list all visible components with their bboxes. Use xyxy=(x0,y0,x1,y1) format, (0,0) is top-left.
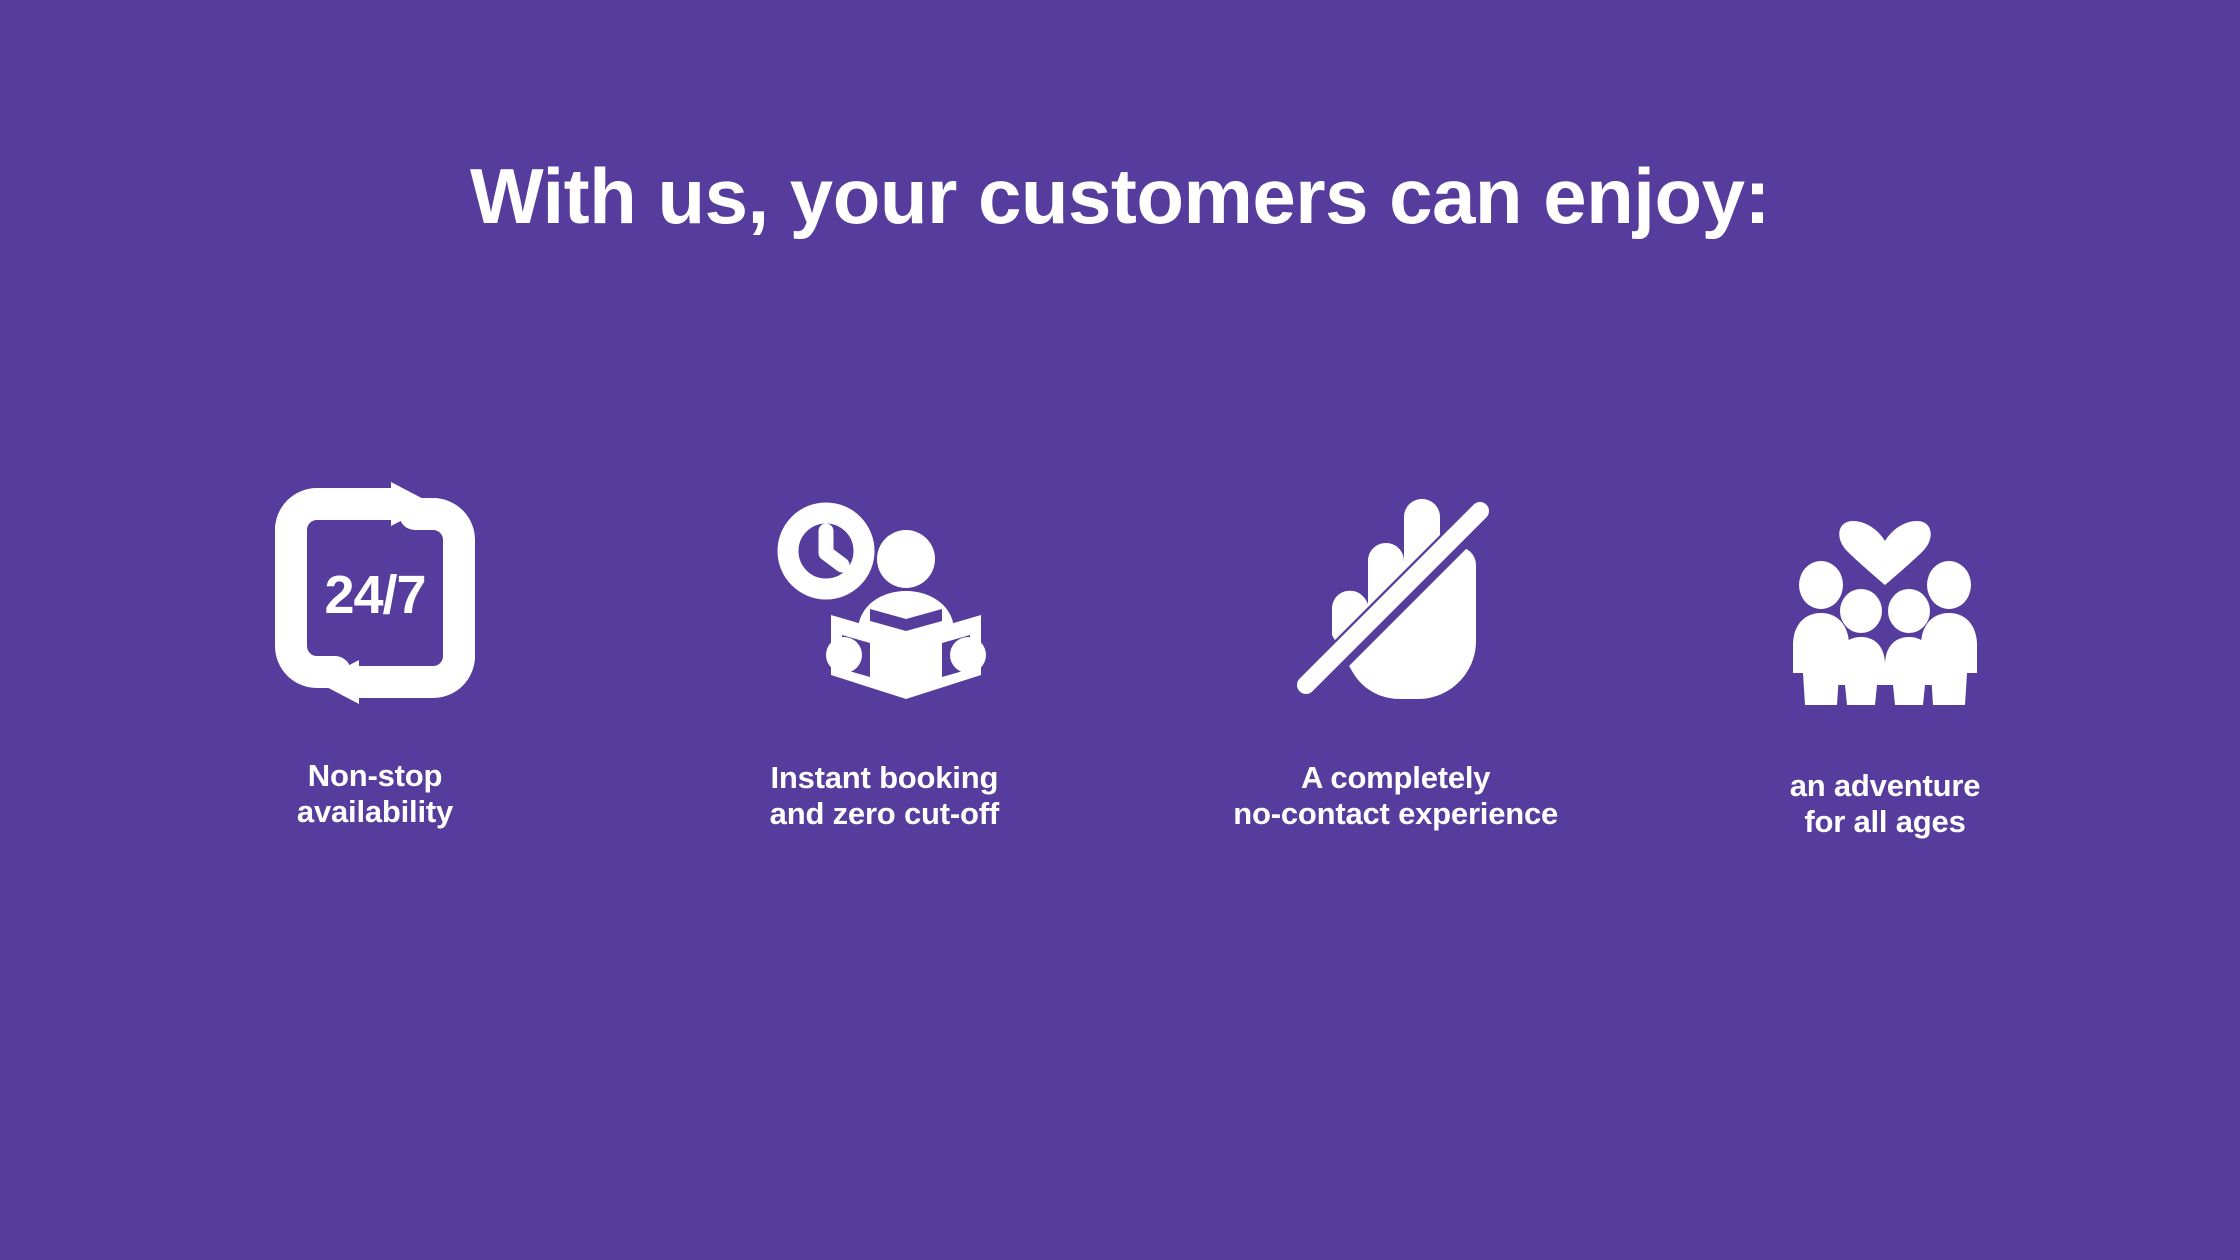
thumb-right-icon xyxy=(950,637,986,673)
child-left-head-icon xyxy=(1840,589,1882,633)
child-left-body-icon xyxy=(1837,637,1885,705)
feature-icon-container xyxy=(1296,470,1496,716)
page-title: With us, your customers can enjoy: xyxy=(0,148,2240,244)
feature-row: 24/7 Non-stop availability xyxy=(120,470,2120,890)
thumb-left-icon xyxy=(826,637,862,673)
feature-item-instant-booking[interactable]: Instant booking and zero cut-off xyxy=(649,470,1119,832)
person-head-icon xyxy=(877,530,935,588)
feature-caption: an adventure for all ages xyxy=(1790,768,1981,840)
feature-caption: Instant booking and zero cut-off xyxy=(770,760,999,832)
feature-icon-container: 24/7 xyxy=(265,470,485,708)
no-touch-hand-slash-icon xyxy=(1296,501,1496,701)
twentyfour-seven-loop-icon: 24/7 xyxy=(265,486,485,701)
feature-caption: Non-stop availability xyxy=(297,758,453,830)
adult-right-head-icon xyxy=(1927,561,1971,609)
child-right-head-icon xyxy=(1888,589,1930,633)
feature-item-no-contact[interactable]: A completely no-contact experience xyxy=(1161,470,1631,832)
icon-label-24-7: 24/7 xyxy=(324,565,425,625)
adult-left-head-icon xyxy=(1799,561,1843,609)
clock-person-reading-book-icon xyxy=(778,503,990,703)
feature-icon-container xyxy=(778,470,990,718)
feature-caption: A completely no-contact experience xyxy=(1233,760,1558,832)
heart-icon xyxy=(1839,521,1930,585)
feature-item-all-ages[interactable]: an adventure for all ages xyxy=(1650,470,2120,840)
child-right-body-icon xyxy=(1885,637,1933,705)
feature-icon-container xyxy=(1785,470,1985,730)
family-with-heart-icon xyxy=(1785,523,1985,708)
slide-canvas: With us, your customers can enjoy: xyxy=(0,0,2240,1260)
feature-item-non-stop-availability[interactable]: 24/7 Non-stop availability xyxy=(140,470,610,830)
